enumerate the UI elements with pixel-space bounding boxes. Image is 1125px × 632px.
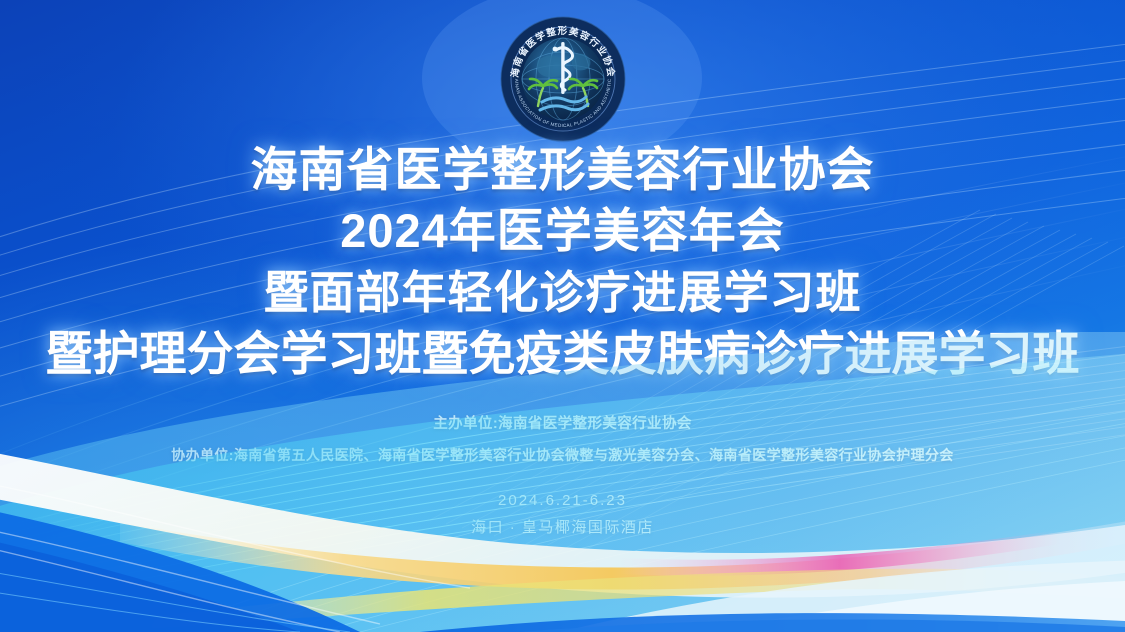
title-line-3: 暨面部年轻化诊疗进展学习班 — [0, 266, 1125, 319]
event-meta-block: 2024.6.21-6.23 海口 · 皇马椰海国际酒店 — [0, 492, 1125, 537]
title-line-1: 海南省医学整形美容行业协会 — [0, 142, 1125, 197]
association-logo-emblem: 海南省医学整形美容行业协会 HAINAN ASSOCIATION OF MEDI… — [498, 14, 628, 144]
organizer-block: 主办单位:海南省医学整形美容行业协会 协办单位:海南省第五人民医院、海南省医学整… — [0, 412, 1125, 465]
co-host-organizers: 协办单位:海南省第五人民医院、海南省医学整形美容行业协会微整与激光美容分会、海南… — [0, 445, 1125, 465]
event-venue: 海口 · 皇马椰海国际酒店 — [0, 516, 1125, 537]
poster-title-block: 海南省医学整形美容行业协会 2024年医学美容年会 暨面部年轻化诊疗进展学习班 … — [0, 142, 1125, 381]
association-logo: 海南省医学整形美容行业协会 HAINAN ASSOCIATION OF MEDI… — [498, 14, 628, 144]
event-date: 2024.6.21-6.23 — [0, 492, 1125, 509]
host-organizer: 主办单位:海南省医学整形美容行业协会 — [0, 412, 1125, 433]
title-line-4: 暨护理分会学习班暨免疫类皮肤病诊疗进展学习班 — [0, 326, 1125, 381]
title-line-2: 2024年医学美容年会 — [0, 203, 1125, 258]
conference-poster: 海南省医学整形美容行业协会 HAINAN ASSOCIATION OF MEDI… — [0, 0, 1125, 632]
